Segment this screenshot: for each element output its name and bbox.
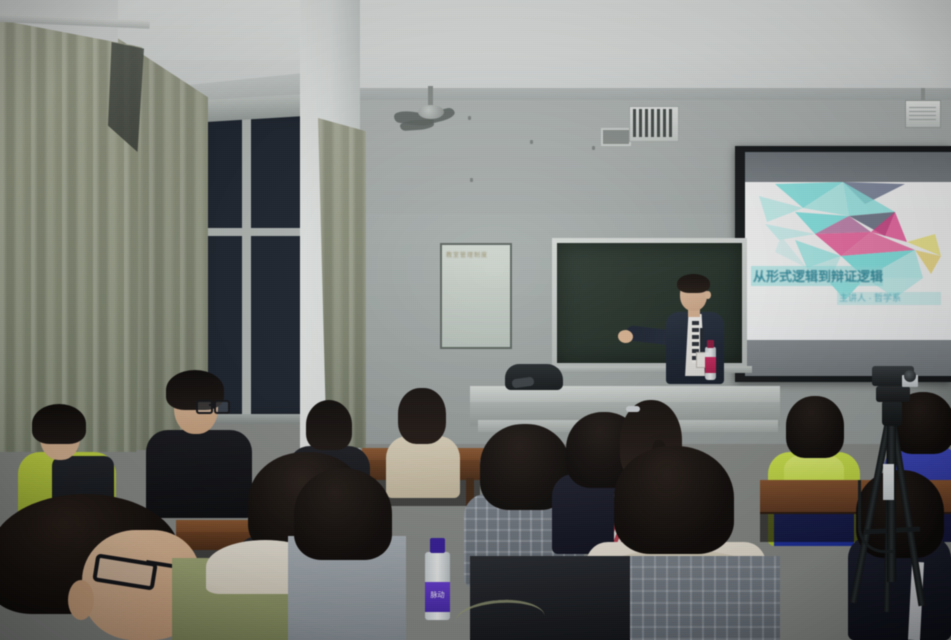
vent-slat [663,109,666,137]
classroom-photo: 从形式逻辑到辩证逻辑 主讲人 · 哲学系 教室管理制度 [0,0,951,640]
vent-slat [657,109,660,137]
wall-mark [470,178,473,182]
ceiling-projector-icon [905,100,941,128]
vent-slat [651,109,654,137]
wall-left-face [118,0,308,60]
student-check-fg [630,556,780,640]
camera-cable [858,480,895,553]
wall-mark [592,146,595,150]
wall-socket [601,128,631,146]
notice-heading: 教室管理制度 [446,250,506,260]
wall-vent-grille [629,106,679,142]
camera-lens-icon [904,370,916,382]
eyeglasses-icon [196,400,226,412]
slide-subtitle: 主讲人 · 哲学系 [839,292,943,305]
wall-notice-board: 教室管理制度 [440,243,512,349]
camera-mount [876,386,910,402]
student-grey-hoodie-fg [288,468,406,640]
water-bottle: 脉动 [425,538,450,620]
projection-screen-canvas: 从形式逻辑到辩证逻辑 主讲人 · 哲学系 [745,182,951,340]
presenter-hair [677,274,710,293]
bottle-brand: 脉动 [425,590,450,600]
tripod-head [882,400,902,426]
wall-mark [468,116,471,120]
projection-screen-top-band [745,152,951,182]
presenter [648,272,748,397]
vent-slat [645,109,648,137]
presenter-lanyard [700,328,704,354]
hair-clip [626,406,640,412]
ceiling-fan-motor [418,105,444,119]
vent-slat [639,109,642,137]
presenter-ear [705,291,711,299]
slide-title: 从形式逻辑到辩证逻辑 [753,267,889,286]
vent-slat [633,109,636,137]
wall-mark [530,140,533,144]
presenter-bottle [705,340,716,380]
slide-lowpoly-art [745,182,951,340]
vent-slat [669,109,672,137]
camera-tripod [846,360,938,630]
foreground-ear [68,580,94,620]
